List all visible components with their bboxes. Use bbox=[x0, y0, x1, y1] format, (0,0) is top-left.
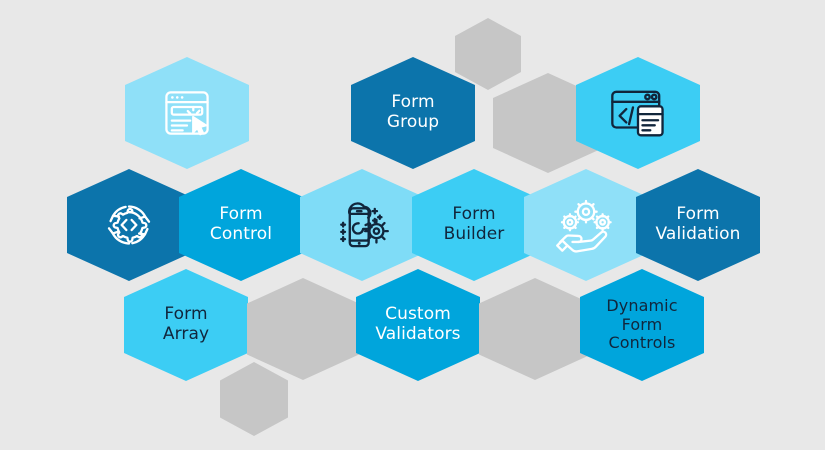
hexagon-form-builder[interactable]: Form Builder bbox=[412, 169, 536, 281]
hexagon-form-array[interactable]: Form Array bbox=[124, 269, 248, 381]
hexagon-mobile-cloud-icon[interactable] bbox=[300, 169, 424, 281]
hexagon-form-input-icon[interactable] bbox=[125, 57, 249, 169]
hexagon-custom-validators[interactable]: Custom Validators bbox=[356, 269, 480, 381]
honeycomb-diagram: Form GroupForm ControlForm BuilderForm V… bbox=[0, 0, 825, 450]
hexagon-top-grey-small bbox=[455, 18, 521, 90]
hexagon-form-validation[interactable]: Form Validation bbox=[636, 169, 760, 281]
hexagon-label-form-validation: Form Validation bbox=[656, 205, 741, 244]
hexagon-label-form-control: Form Control bbox=[210, 205, 272, 244]
mobile-cloud-config-icon bbox=[332, 195, 392, 255]
hexagon-label-form-group: Form Group bbox=[387, 93, 439, 132]
hexagon-label-form-array: Form Array bbox=[163, 305, 209, 344]
hexagon-label-custom-validators: Custom Validators bbox=[375, 305, 460, 344]
hexagon-layer: Form GroupForm ControlForm BuilderForm V… bbox=[0, 0, 825, 450]
hexagon-grey-bottom-small bbox=[220, 362, 288, 436]
hexagon-label-dynamic-form-controls: Dynamic Form Controls bbox=[606, 297, 677, 353]
hexagon-code-browser-icon[interactable] bbox=[576, 57, 700, 169]
gear-code-refresh-icon bbox=[99, 196, 159, 254]
hexagon-form-control-gear-icon[interactable] bbox=[67, 169, 191, 281]
form-window-cursor-icon bbox=[161, 87, 213, 139]
hexagon-label-form-builder: Form Builder bbox=[444, 205, 505, 244]
hexagon-form-control[interactable]: Form Control bbox=[179, 169, 303, 281]
hand-gears-icon bbox=[555, 197, 617, 253]
code-browser-icon bbox=[609, 86, 667, 140]
hexagon-form-group[interactable]: Form Group bbox=[351, 57, 475, 169]
hexagon-grey-bottom-2 bbox=[479, 278, 591, 380]
hexagon-hand-gears-icon[interactable] bbox=[524, 169, 648, 281]
hexagon-dynamic-form-controls[interactable]: Dynamic Form Controls bbox=[580, 269, 704, 381]
hexagon-grey-bottom-1 bbox=[247, 278, 359, 380]
